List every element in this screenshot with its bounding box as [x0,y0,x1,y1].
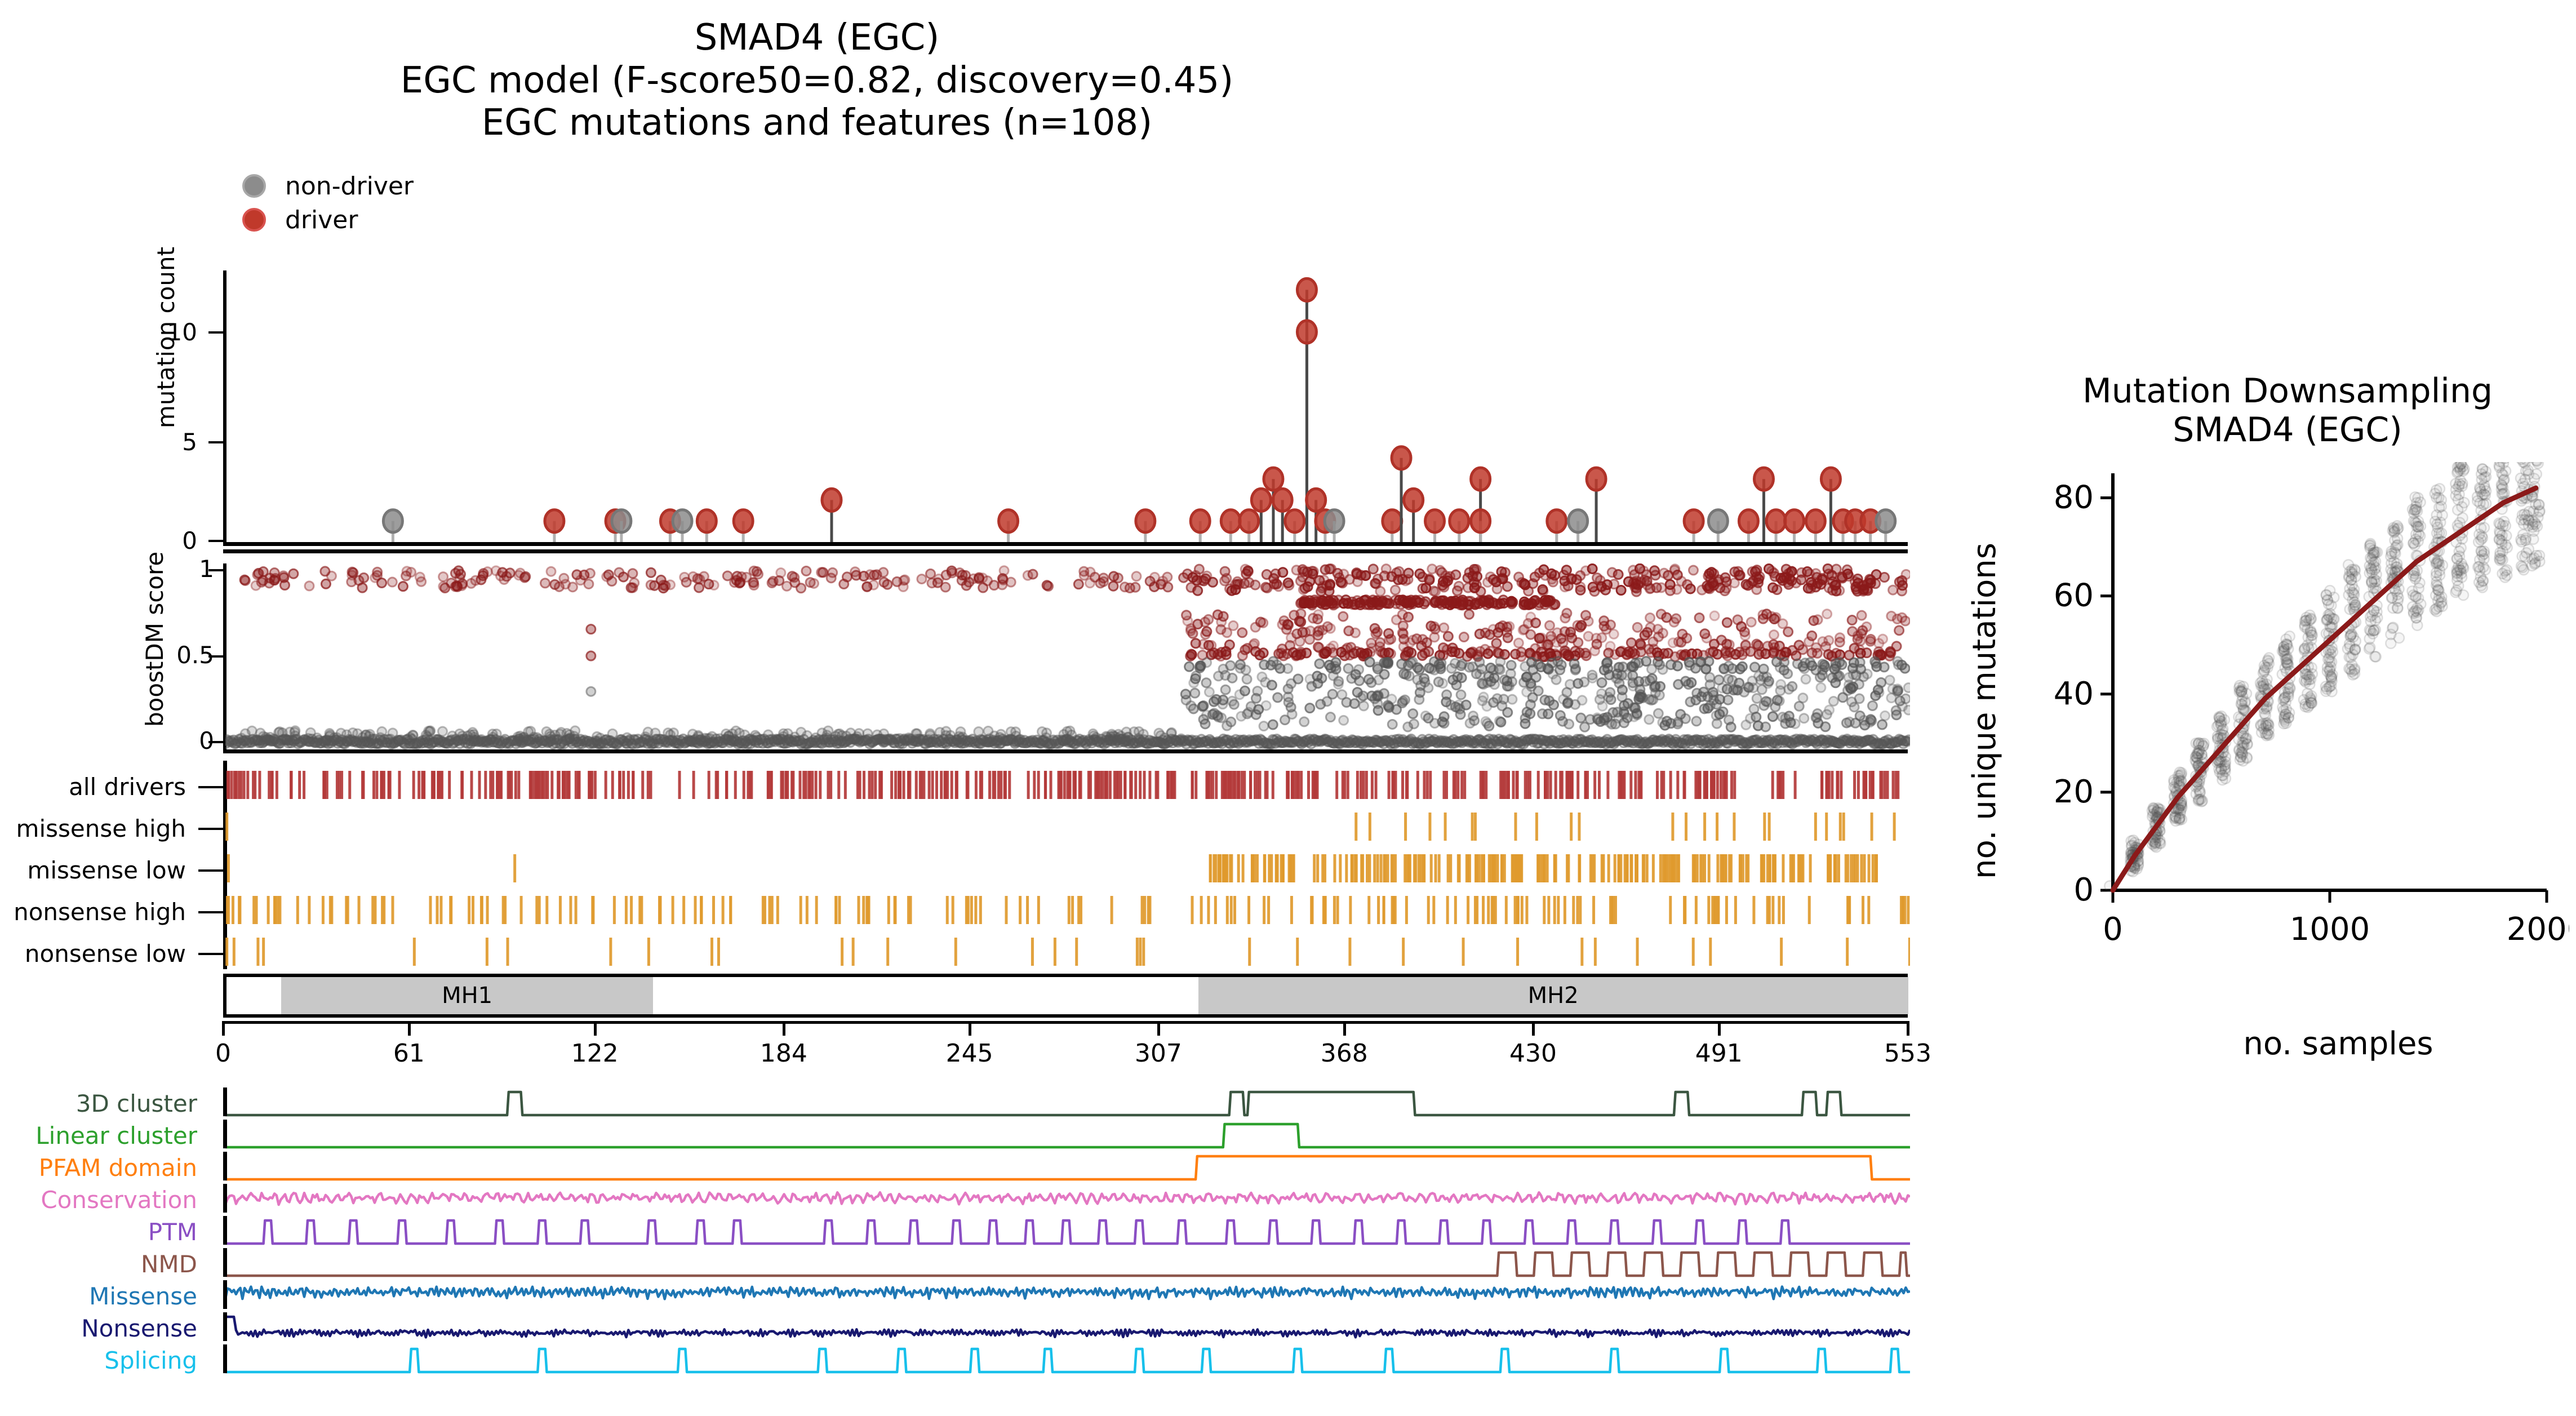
svg-text:0: 0 [2073,872,2094,908]
svg-text:2000: 2000 [2507,911,2569,948]
downsampling-title-line2: SMAD4 (EGC) [2006,411,2569,450]
score-ytick-0.5: 0.5 [141,641,214,669]
needle-tick-5 [208,441,224,443]
needle-ytick-0: 0 [152,527,197,554]
protein-axis-ticklabel-491: 491 [1674,1039,1764,1068]
annotation-track-label-missense-high: missense high [0,815,186,842]
needle-tick-0 [208,540,224,542]
non-driver-dot-icon [242,174,266,198]
protein-axis-ticklabel-0: 0 [178,1039,268,1068]
feature-track-label-NMD: NMD [0,1250,197,1278]
legend-label-non-driver: non-driver [285,172,414,201]
score-x-axis-top [223,549,1908,553]
feature-track-label-3D-cluster: 3D cluster [0,1090,197,1117]
boostdm-score-plot [225,563,1910,749]
title-line-model: EGC model (F-score50=0.82, discovery=0.4… [0,60,1634,103]
protein-axis-ticklabel-245: 245 [925,1039,1015,1068]
annotation-track-label-missense-low: missense low [0,856,186,884]
score-x-axis [223,749,1908,753]
protein-axis-tickmark [1157,1021,1160,1036]
annotation-axis-tick [198,869,223,872]
feature-track-label-Linear-cluster: Linear cluster [0,1122,197,1149]
protein-domain-MH2: MH2 [1198,977,1908,1014]
protein-domain-label: MH1 [442,983,492,1009]
annotation-track-label-all-drivers: all drivers [0,773,186,801]
score-ytick-1: 1 [141,555,214,583]
feature-track-label-Conservation: Conservation [0,1186,197,1214]
score-tick-0 [208,741,224,743]
feature-track-label-PTM: PTM [0,1218,197,1246]
annotation-axis-tick [198,911,223,913]
feature-track-axis [223,1120,227,1148]
protein-axis-ticklabel-184: 184 [739,1039,829,1068]
feature-track-axis [223,1280,227,1309]
annotation-axis-tick [198,953,223,955]
downsampling-x-axis-label: no. samples [2085,1026,2576,1062]
title-line-mutations: EGC mutations and features (n=108) [0,102,1634,145]
downsampling-y-axis-label: no. unique mutations [1966,543,2003,879]
downsampling-plot: 020406080010002000 [2006,462,2569,1026]
protein-axis-ticklabel-553: 553 [1863,1039,1953,1068]
protein-axis-ticklabel-307: 307 [1113,1039,1203,1068]
protein-axis-tickmark [969,1021,971,1036]
feature-track-axis [223,1312,227,1341]
feature-track-axis [223,1152,227,1180]
svg-text:1000: 1000 [2290,911,2370,948]
feature-track-axis [223,1344,227,1373]
feature-track-label-PFAM-domain: PFAM domain [0,1154,197,1182]
protein-domain-label: MH2 [1528,983,1579,1009]
score-tick-0.5 [208,655,224,658]
feature-track-axis [223,1087,227,1116]
annotation-axis-tick [198,828,223,830]
legend-label-driver: driver [285,206,358,234]
protein-x-axis: 061122184245307368430491553 [223,1021,1908,1077]
downsampling-title: Mutation Downsampling SMAD4 (EGC) [2006,372,2569,450]
needle-tick-10 [208,331,224,334]
annotation-tracks [225,761,1910,969]
protein-axis-tickmark [1907,1021,1909,1036]
legend-item-non-driver: non-driver [242,169,414,203]
feature-track-axis [223,1248,227,1277]
protein-axis-ticklabel-430: 430 [1488,1039,1578,1068]
protein-axis-ticklabel-122: 122 [550,1039,640,1068]
protein-axis-tickmark [1718,1021,1721,1036]
score-ytick-0: 0 [141,727,214,754]
needle-plot [225,265,1910,544]
annotation-track-label-nonsense-high: nonsense high [0,898,186,926]
annotation-track-label-nonsense-low: nonsense low [0,940,186,967]
svg-text:20: 20 [2054,774,2094,810]
legend-item-driver: driver [242,203,414,237]
annotation-axis-tick [198,786,223,788]
svg-text:80: 80 [2054,480,2094,516]
feature-tracks [225,1087,1910,1403]
title-line-gene: SMAD4 (EGC) [0,17,1634,60]
svg-text:60: 60 [2054,578,2094,614]
feature-track-axis [223,1216,227,1245]
protein-axis-ticklabel-61: 61 [364,1039,454,1068]
protein-axis-tickmark [1532,1021,1535,1036]
svg-text:0: 0 [2103,911,2123,948]
feature-track-label-Splicing: Splicing [0,1347,197,1374]
driver-dot-icon [242,208,266,232]
main-title: SMAD4 (EGC) EGC model (F-score50=0.82, d… [0,17,1634,145]
needle-ytick-5: 5 [152,428,197,456]
svg-text:40: 40 [2054,676,2094,712]
needle-ytick-10: 10 [152,318,197,346]
downsampling-title-line1: Mutation Downsampling [2006,372,2569,411]
feature-track-label-Missense: Missense [0,1282,197,1310]
protein-axis-tickmark [408,1021,411,1036]
protein-domain-MH1: MH1 [281,977,653,1014]
protein-axis-ticklabel-368: 368 [1299,1039,1389,1068]
protein-axis-tickmark [783,1021,785,1036]
feature-track-label-Nonsense: Nonsense [0,1315,197,1342]
feature-track-axis [223,1184,227,1213]
legend: non-driver driver [242,169,414,237]
protein-axis-line [223,1021,1908,1024]
protein-domain-bar: MH1MH2 [223,974,1908,1018]
score-tick-1 [208,569,224,571]
protein-axis-tickmark [1343,1021,1346,1036]
protein-axis-tickmark [222,1021,225,1036]
protein-axis-tickmark [594,1021,597,1036]
